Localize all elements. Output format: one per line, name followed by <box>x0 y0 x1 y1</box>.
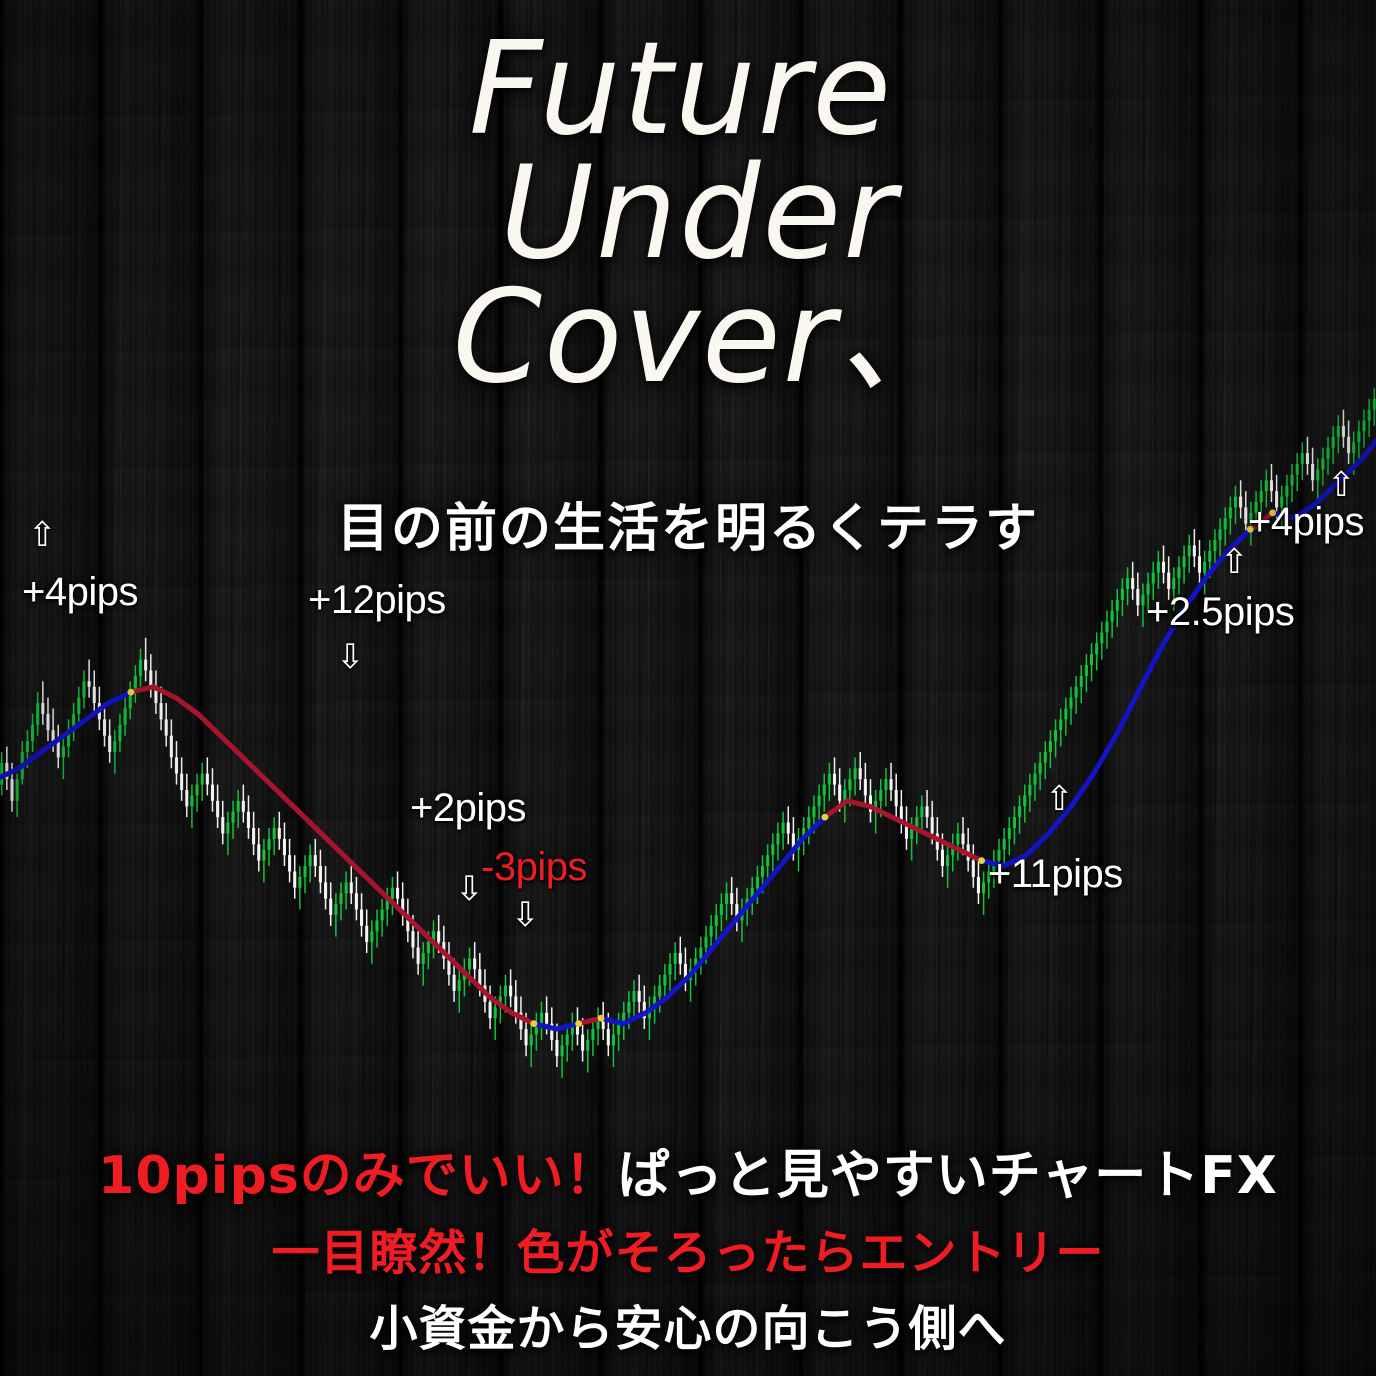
annotation-plus-11pips: +11pips <box>988 852 1123 897</box>
arrow-up-icon: ⇧ <box>28 518 57 552</box>
arrow-up-icon: ⇧ <box>1327 468 1356 502</box>
annotation-plus-4pips-right: +4pips <box>1248 500 1364 545</box>
arrow-down-icon: ⇩ <box>336 640 365 674</box>
chart-svg <box>0 0 1376 1376</box>
annotation-plus-2point5pips: +2.5pips <box>1146 590 1294 635</box>
arrow-up-icon: ⇧ <box>1220 545 1249 579</box>
arrow-down-icon: ⇩ <box>511 898 540 932</box>
forex-candlestick-chart <box>0 0 1376 1376</box>
annotation-plus-2pips: +2pips <box>410 786 526 831</box>
poster-root: ⇧+4pips⇩+12pips⇩+2pips⇩-3pips⇧+11pips⇧+2… <box>0 0 1376 1376</box>
annotation-minus-3pips: -3pips <box>481 845 587 890</box>
candle-group <box>0 377 1376 1078</box>
annotation-plus-4pips-left: +4pips <box>22 570 138 615</box>
arrow-down-icon: ⇩ <box>455 872 484 906</box>
moving-average-line <box>0 437 1376 1029</box>
annotation-plus-12pips: +12pips <box>308 578 446 623</box>
arrow-up-icon: ⇧ <box>1045 782 1074 816</box>
